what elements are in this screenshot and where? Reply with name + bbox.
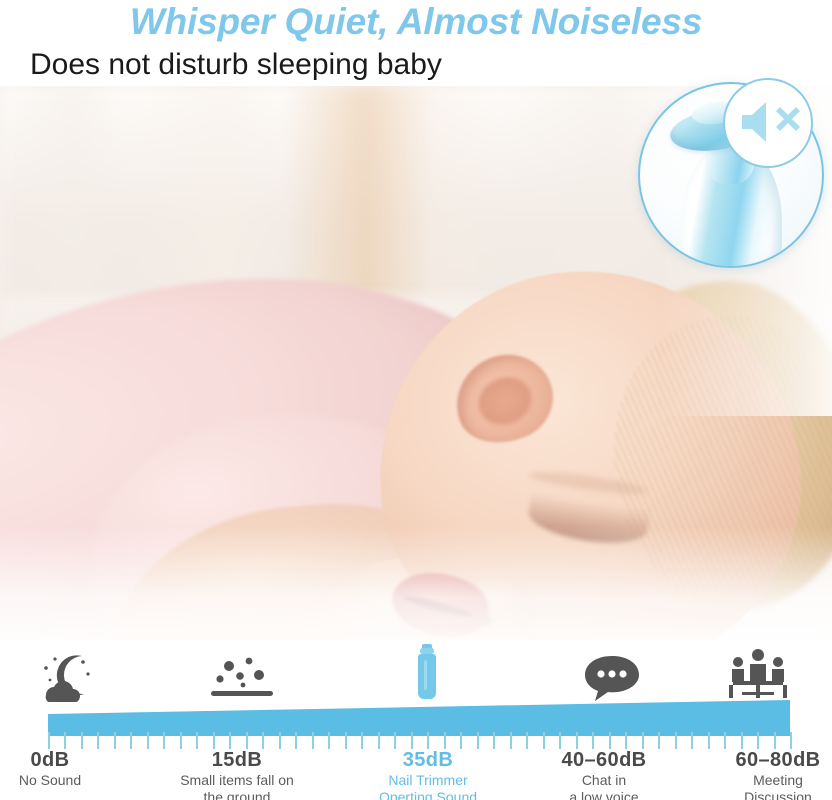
tick-mark bbox=[724, 732, 726, 749]
tick-mark bbox=[543, 732, 545, 749]
decibel-value: 0dB bbox=[0, 748, 125, 772]
tick-mark bbox=[394, 732, 396, 749]
tick-mark bbox=[774, 732, 776, 749]
tick-mark bbox=[757, 732, 759, 749]
tick-mark bbox=[130, 732, 132, 749]
tick-mark bbox=[64, 732, 66, 749]
tick-mark bbox=[675, 732, 677, 749]
decibel-caption-line: a low voice bbox=[519, 789, 689, 800]
decibel-stop-label: 0dBNo Sound bbox=[0, 748, 125, 789]
tick-mark bbox=[180, 732, 182, 749]
tick-mark bbox=[411, 732, 413, 749]
tick-mark bbox=[642, 732, 644, 749]
decibel-caption-line: No Sound bbox=[0, 772, 125, 789]
falling-items-icon bbox=[207, 654, 277, 702]
tick-mark bbox=[460, 732, 462, 749]
decibel-caption-line: Discussion bbox=[703, 789, 832, 800]
tick-mark bbox=[444, 732, 446, 749]
decibel-caption-line: Small items fall on bbox=[132, 772, 342, 789]
tick-mark bbox=[625, 732, 627, 749]
tick-mark bbox=[114, 732, 116, 749]
tick-mark bbox=[48, 732, 50, 749]
decibel-value: 15dB bbox=[132, 748, 342, 772]
tick-mark bbox=[213, 732, 215, 749]
nail-trimmer-icon bbox=[415, 644, 439, 702]
tick-mark bbox=[81, 732, 83, 749]
tick-mark bbox=[691, 732, 693, 749]
tick-mark bbox=[708, 732, 710, 749]
tick-mark bbox=[361, 732, 363, 749]
tick-mark bbox=[741, 732, 743, 749]
tick-mark bbox=[609, 732, 611, 749]
tick-mark bbox=[246, 732, 248, 749]
tick-mark bbox=[427, 732, 429, 749]
decibel-caption-line: Nail Trimmer bbox=[333, 772, 523, 789]
tick-mark bbox=[312, 732, 314, 749]
photo-bottom-fade bbox=[0, 526, 832, 656]
tick-mark bbox=[658, 732, 660, 749]
tick-mark bbox=[378, 732, 380, 749]
tick-mark bbox=[163, 732, 165, 749]
speech-bubble-icon bbox=[583, 654, 641, 702]
tick-mark bbox=[526, 732, 528, 749]
decibel-caption-line: Chat in bbox=[519, 772, 689, 789]
tick-mark bbox=[262, 732, 264, 749]
tick-mark bbox=[345, 732, 347, 749]
decibel-stop-label: 35dBNail TrimmerOperting Sound bbox=[333, 748, 523, 800]
decibel-caption-line: Operting Sound bbox=[333, 789, 523, 800]
tick-mark bbox=[477, 732, 479, 749]
decibel-value: 60–80dB bbox=[703, 748, 832, 772]
decibel-stop-label: 60–80dBMeetingDiscussion bbox=[703, 748, 832, 800]
decibel-value: 35dB bbox=[333, 748, 523, 772]
page-subheadline: Does not disturb sleeping baby bbox=[30, 48, 442, 82]
tick-mark bbox=[790, 732, 792, 749]
decibel-bar bbox=[0, 698, 832, 736]
decibel-stop-label: 15dBSmall items fall onthe ground bbox=[132, 748, 342, 800]
tick-mark bbox=[229, 732, 231, 749]
tick-mark bbox=[559, 732, 561, 749]
decibel-stop-label: 40–60dBChat ina low voice bbox=[519, 748, 689, 800]
page-headline: Whisper Quiet, Almost Noiseless bbox=[0, 2, 832, 42]
tick-mark bbox=[576, 732, 578, 749]
tick-mark bbox=[493, 732, 495, 749]
mute-speaker-icon bbox=[738, 98, 800, 146]
tick-mark bbox=[328, 732, 330, 749]
tick-mark bbox=[510, 732, 512, 749]
decibel-label-row: 0dBNo Sound15dBSmall items fall onthe gr… bbox=[0, 748, 832, 800]
product-feature-image: Whisper Quiet, Almost Noiseless Does not… bbox=[0, 0, 832, 800]
tick-mark bbox=[592, 732, 594, 749]
meeting-table-icon bbox=[728, 648, 788, 702]
tick-mark bbox=[279, 732, 281, 749]
tick-mark bbox=[147, 732, 149, 749]
decibel-value: 40–60dB bbox=[519, 748, 689, 772]
tick-mark bbox=[97, 732, 99, 749]
mute-speaker-badge bbox=[723, 78, 813, 168]
decibel-scale-infographic: 0dBNo Sound15dBSmall items fall onthe gr… bbox=[0, 640, 832, 800]
tick-mark bbox=[196, 732, 198, 749]
moon-cloud-stars-icon bbox=[38, 650, 94, 702]
tick-mark bbox=[295, 732, 297, 749]
scale-icon-row bbox=[0, 640, 832, 702]
decibel-caption-line: the ground bbox=[132, 789, 342, 800]
decibel-caption-line: Meeting bbox=[703, 772, 832, 789]
